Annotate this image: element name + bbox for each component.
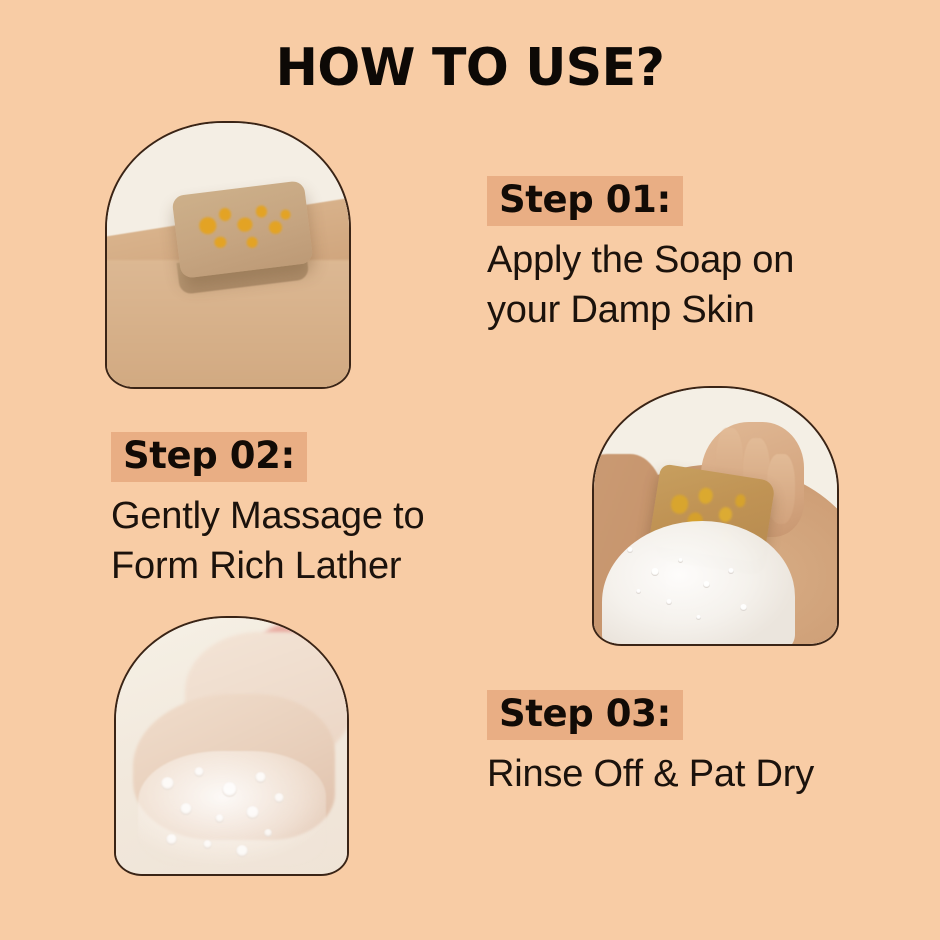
step-01-tag: Step 01: <box>487 176 683 226</box>
step-02-tag: Step 02: <box>111 432 307 482</box>
step-02-photo <box>592 386 839 646</box>
step-03-tag: Step 03: <box>487 690 683 740</box>
page-title: HOW TO USE? <box>14 38 926 98</box>
step-02-body: Gently Massage to Form Rich Lather <box>111 491 424 591</box>
soap-bar-icon <box>172 180 314 279</box>
step-02-text-block: Step 02: Gently Massage to Form Rich Lat… <box>111 432 424 591</box>
soap-bar-on-damp-skin-image <box>105 121 351 389</box>
how-to-use-infographic: HOW TO USE? Step 01: Apply the Soap on y… <box>0 0 940 940</box>
step-03-body: Rinse Off & Pat Dry <box>487 749 814 799</box>
hands-rinsing-under-water-image <box>114 616 349 876</box>
hand-massaging-soap-into-lather-image <box>592 386 839 646</box>
step-01-photo <box>105 121 351 389</box>
step-03-photo <box>114 616 349 876</box>
step-01-text-block: Step 01: Apply the Soap on your Damp Ski… <box>487 176 794 335</box>
step-03-text-block: Step 03: Rinse Off & Pat Dry <box>487 690 814 799</box>
step-01-body: Apply the Soap on your Damp Skin <box>487 235 794 335</box>
